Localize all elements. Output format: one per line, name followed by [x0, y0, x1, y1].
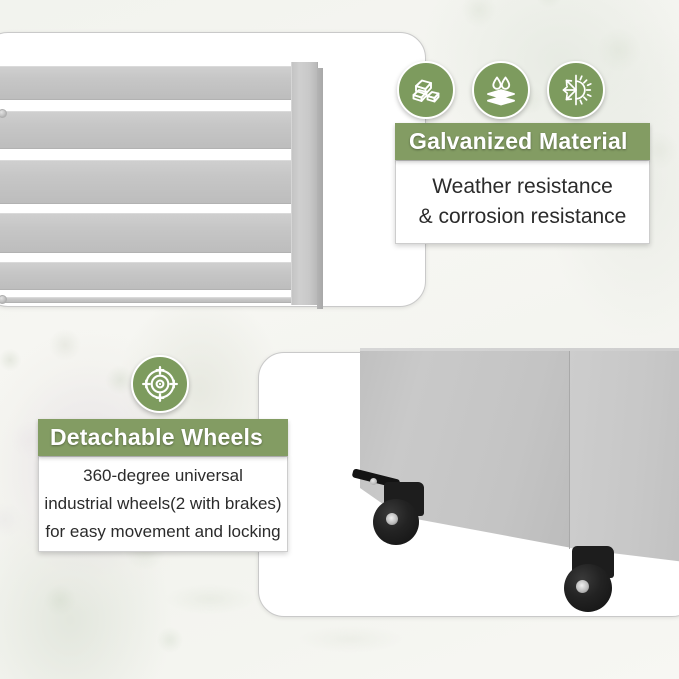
- wheels-card-title: Detachable Wheels: [38, 419, 288, 456]
- slatted-metal-panel-product: [0, 66, 330, 303]
- cabinet-top-edge: [360, 348, 679, 351]
- metal-ingots-icon: [397, 61, 455, 119]
- wheels-body-line-2: industrial wheels(2 with brakes): [44, 494, 281, 514]
- storage-cabinet-product: [360, 348, 679, 564]
- caster-hub: [386, 513, 398, 525]
- water-droplets-layers-icon: [472, 61, 530, 119]
- galvanized-body-line-2: & corrosion resistance: [419, 205, 627, 229]
- cabinet-corner-seam: [569, 348, 570, 549]
- galvanized-icon-row: [397, 61, 605, 119]
- snowflake-sun-icon: [547, 61, 605, 119]
- wheel-target-icon: [131, 355, 189, 413]
- wheels-body-line-3: for easy movement and locking: [45, 522, 280, 542]
- galvanized-title-text: Galvanized Material: [409, 128, 628, 155]
- wheels-icon-row: [131, 355, 189, 413]
- slat: [0, 297, 304, 303]
- cabinet-right-face: [570, 348, 679, 564]
- galvanized-card-body: Weather resistance & corrosion resistanc…: [395, 160, 650, 244]
- infographic-canvas: Galvanized Material Weather resistance &…: [0, 0, 679, 679]
- wheels-title-text: Detachable Wheels: [50, 424, 263, 451]
- post-side-edge: [317, 68, 323, 309]
- slat: [0, 66, 304, 100]
- wheels-card-body: 360-degree universal industrial wheels(2…: [38, 456, 288, 552]
- slat: [0, 160, 304, 204]
- caster-bolt: [370, 478, 377, 485]
- caster-hub: [576, 580, 589, 593]
- wheels-body-line-1: 360-degree universal: [83, 466, 243, 486]
- vertical-post: [291, 62, 318, 305]
- galvanized-card-title: Galvanized Material: [395, 123, 650, 160]
- slat: [0, 111, 304, 149]
- slat: [0, 213, 304, 253]
- slat: [0, 262, 304, 290]
- galvanized-body-line-1: Weather resistance: [432, 175, 613, 199]
